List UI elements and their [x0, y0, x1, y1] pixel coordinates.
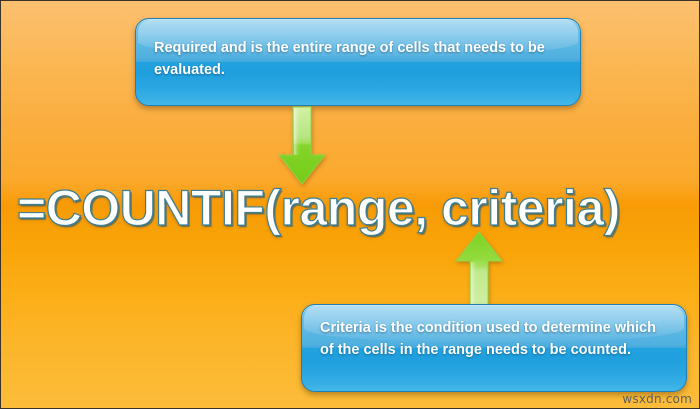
- callout-range-text: Required and is the entire range of cell…: [154, 37, 562, 82]
- callout-criteria-text: Criteria is the condition used to determ…: [320, 317, 668, 362]
- watermark-label: wsxdn.com: [622, 392, 692, 406]
- formula-text: =COUNTIF(range, criteria): [17, 179, 685, 237]
- callout-criteria-description: Criteria is the condition used to determ…: [301, 304, 687, 392]
- slide-canvas: Required and is the entire range of cell…: [0, 0, 700, 409]
- arrow-down-icon: [276, 105, 328, 187]
- callout-range-description: Required and is the entire range of cell…: [135, 18, 581, 106]
- arrow-up-icon: [453, 229, 505, 313]
